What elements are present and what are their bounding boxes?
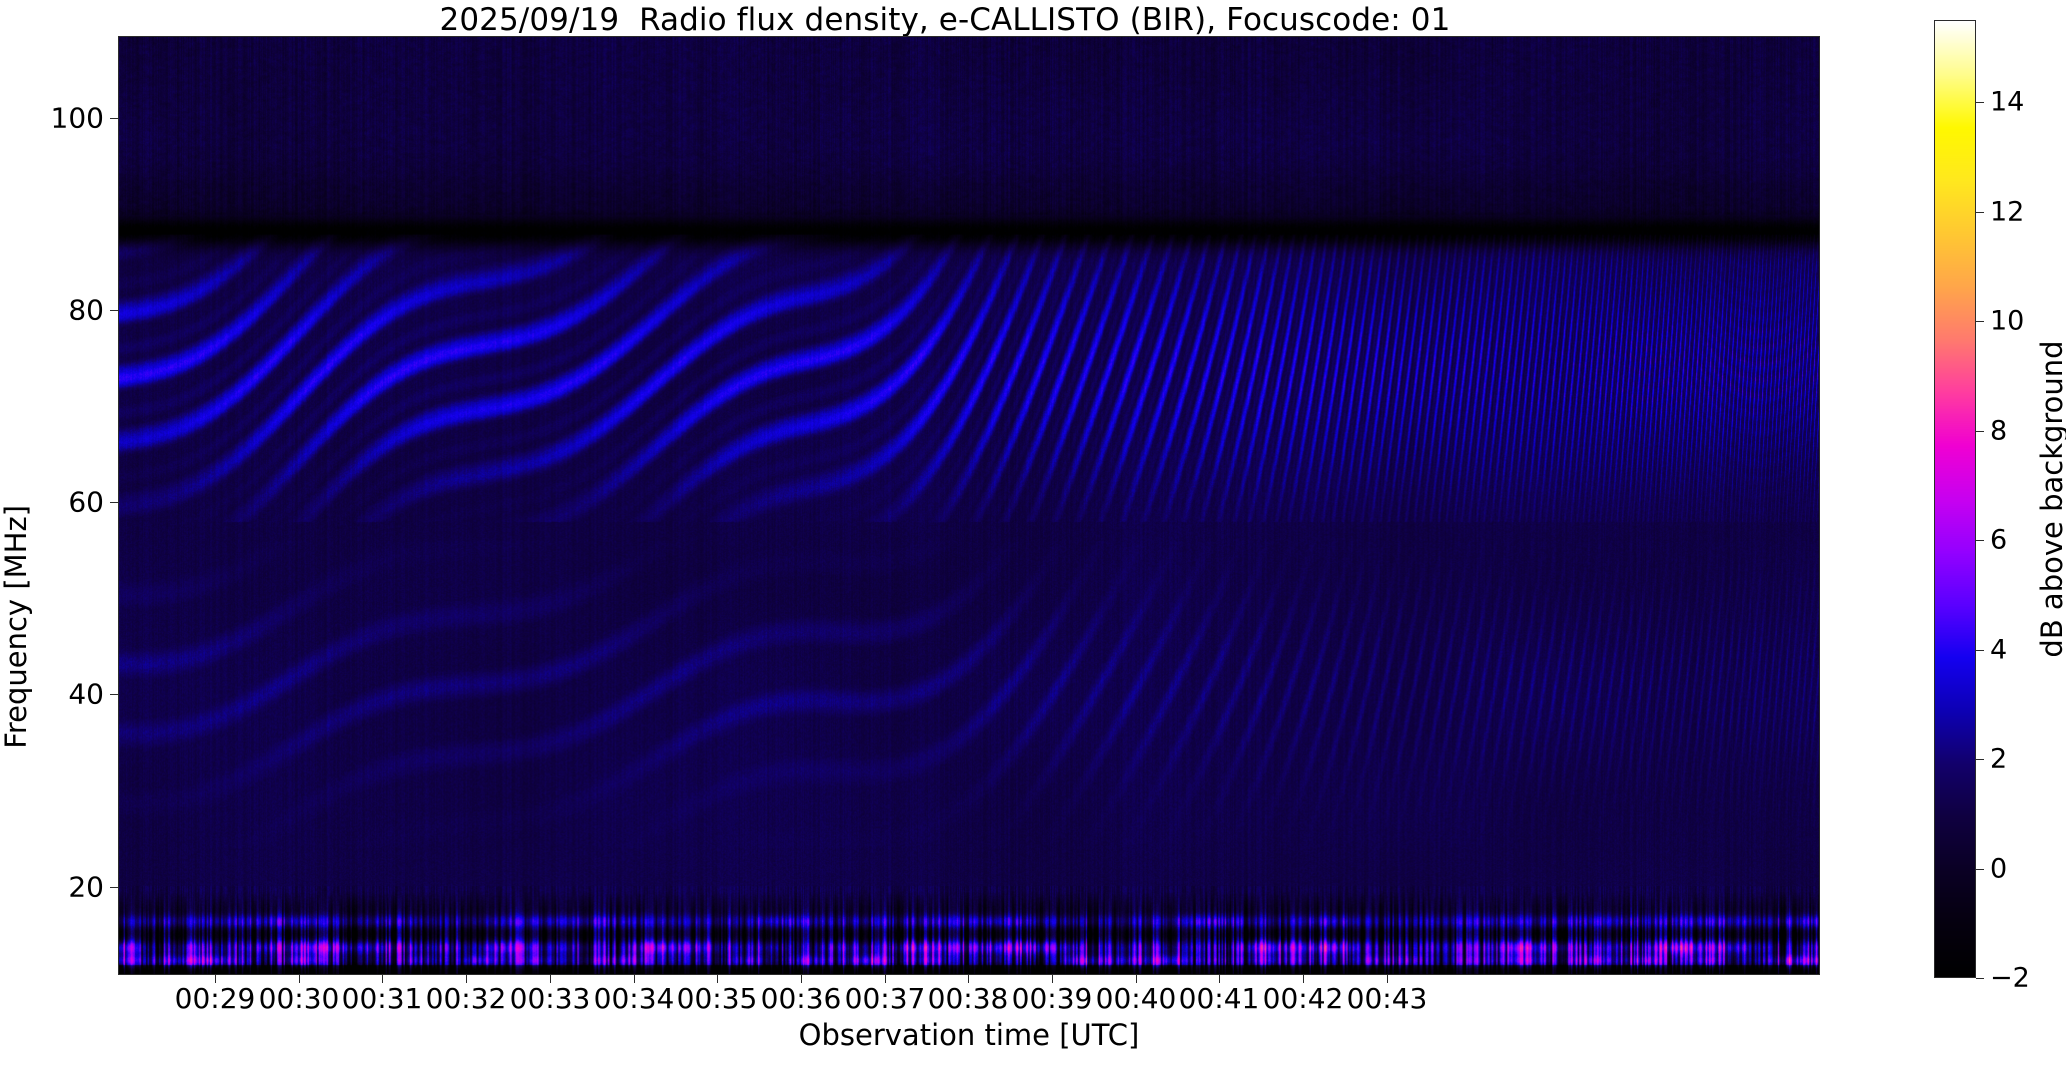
colorbar-tick-label: 6 bbox=[1990, 525, 2007, 556]
x-tick-label: 00:40 bbox=[1096, 982, 1177, 1015]
colorbar-tick-label: 0 bbox=[1990, 853, 2007, 884]
y-axis-label-wrap: Frequency [MHz] bbox=[22, 0, 23, 1067]
x-axis-label: Observation time [UTC] bbox=[118, 1018, 1820, 1052]
colorbar-tick-mark bbox=[1976, 212, 1984, 213]
x-tick-label: 00:41 bbox=[1179, 982, 1260, 1015]
colorbar-tick-label: 2 bbox=[1990, 744, 2007, 775]
x-tick-label: 00:37 bbox=[845, 982, 926, 1015]
y-tick-label: 20 bbox=[40, 870, 104, 903]
x-tick-label: 00:29 bbox=[175, 982, 256, 1015]
page-title: 2025/09/19 Radio flux density, e-CALLIST… bbox=[0, 2, 1890, 38]
x-tick-label: 00:34 bbox=[594, 982, 675, 1015]
colorbar-tick-label: 14 bbox=[1990, 87, 2024, 118]
colorbar-gradient bbox=[1935, 21, 1975, 977]
plot-area bbox=[118, 36, 1820, 975]
y-tick-label: 100 bbox=[40, 101, 104, 134]
x-tick-label: 00:33 bbox=[510, 982, 591, 1015]
y-tick-label: 40 bbox=[40, 678, 104, 711]
colorbar-tick-mark bbox=[1976, 102, 1984, 103]
y-tick-label: 60 bbox=[40, 486, 104, 519]
x-tick-label: 00:31 bbox=[342, 982, 423, 1015]
colorbar-tick-mark bbox=[1976, 978, 1984, 979]
colorbar-label: dB above background bbox=[2035, 340, 2066, 657]
y-tick-mark bbox=[110, 310, 118, 311]
x-tick-label: 00:43 bbox=[1347, 982, 1428, 1015]
x-tick-label: 00:36 bbox=[761, 982, 842, 1015]
y-tick-mark bbox=[110, 694, 118, 695]
colorbar-tick-label: 10 bbox=[1990, 306, 2024, 337]
x-tick-label: 00:30 bbox=[259, 982, 340, 1015]
y-tick-mark bbox=[110, 118, 118, 119]
y-tick-mark bbox=[110, 502, 118, 503]
colorbar-tick-label: −2 bbox=[1990, 963, 2030, 994]
x-tick-label: 00:35 bbox=[677, 982, 758, 1015]
colorbar-tick-label: 8 bbox=[1990, 415, 2007, 446]
colorbar-tick-mark bbox=[1976, 759, 1984, 760]
colorbar-tick-mark bbox=[1976, 869, 1984, 870]
spectrogram-figure: 2025/09/19 Radio flux density, e-CALLIST… bbox=[0, 0, 2066, 1067]
x-tick-label: 00:39 bbox=[1012, 982, 1093, 1015]
y-axis-label: Frequency [MHz] bbox=[0, 505, 33, 749]
colorbar-tick-mark bbox=[1976, 321, 1984, 322]
x-tick-label: 00:42 bbox=[1263, 982, 1344, 1015]
colorbar-tick-label: 12 bbox=[1990, 196, 2024, 227]
y-tick-label: 80 bbox=[40, 293, 104, 326]
colorbar-tick-mark bbox=[1976, 431, 1984, 432]
colorbar-tick-mark bbox=[1976, 540, 1984, 541]
x-tick-label: 00:32 bbox=[426, 982, 507, 1015]
colorbar bbox=[1934, 20, 1976, 978]
colorbar-tick-mark bbox=[1976, 650, 1984, 651]
spectrogram-heatmap bbox=[119, 37, 1819, 974]
y-tick-mark bbox=[110, 887, 118, 888]
colorbar-tick-label: 4 bbox=[1990, 634, 2007, 665]
x-tick-label: 00:38 bbox=[928, 982, 1009, 1015]
